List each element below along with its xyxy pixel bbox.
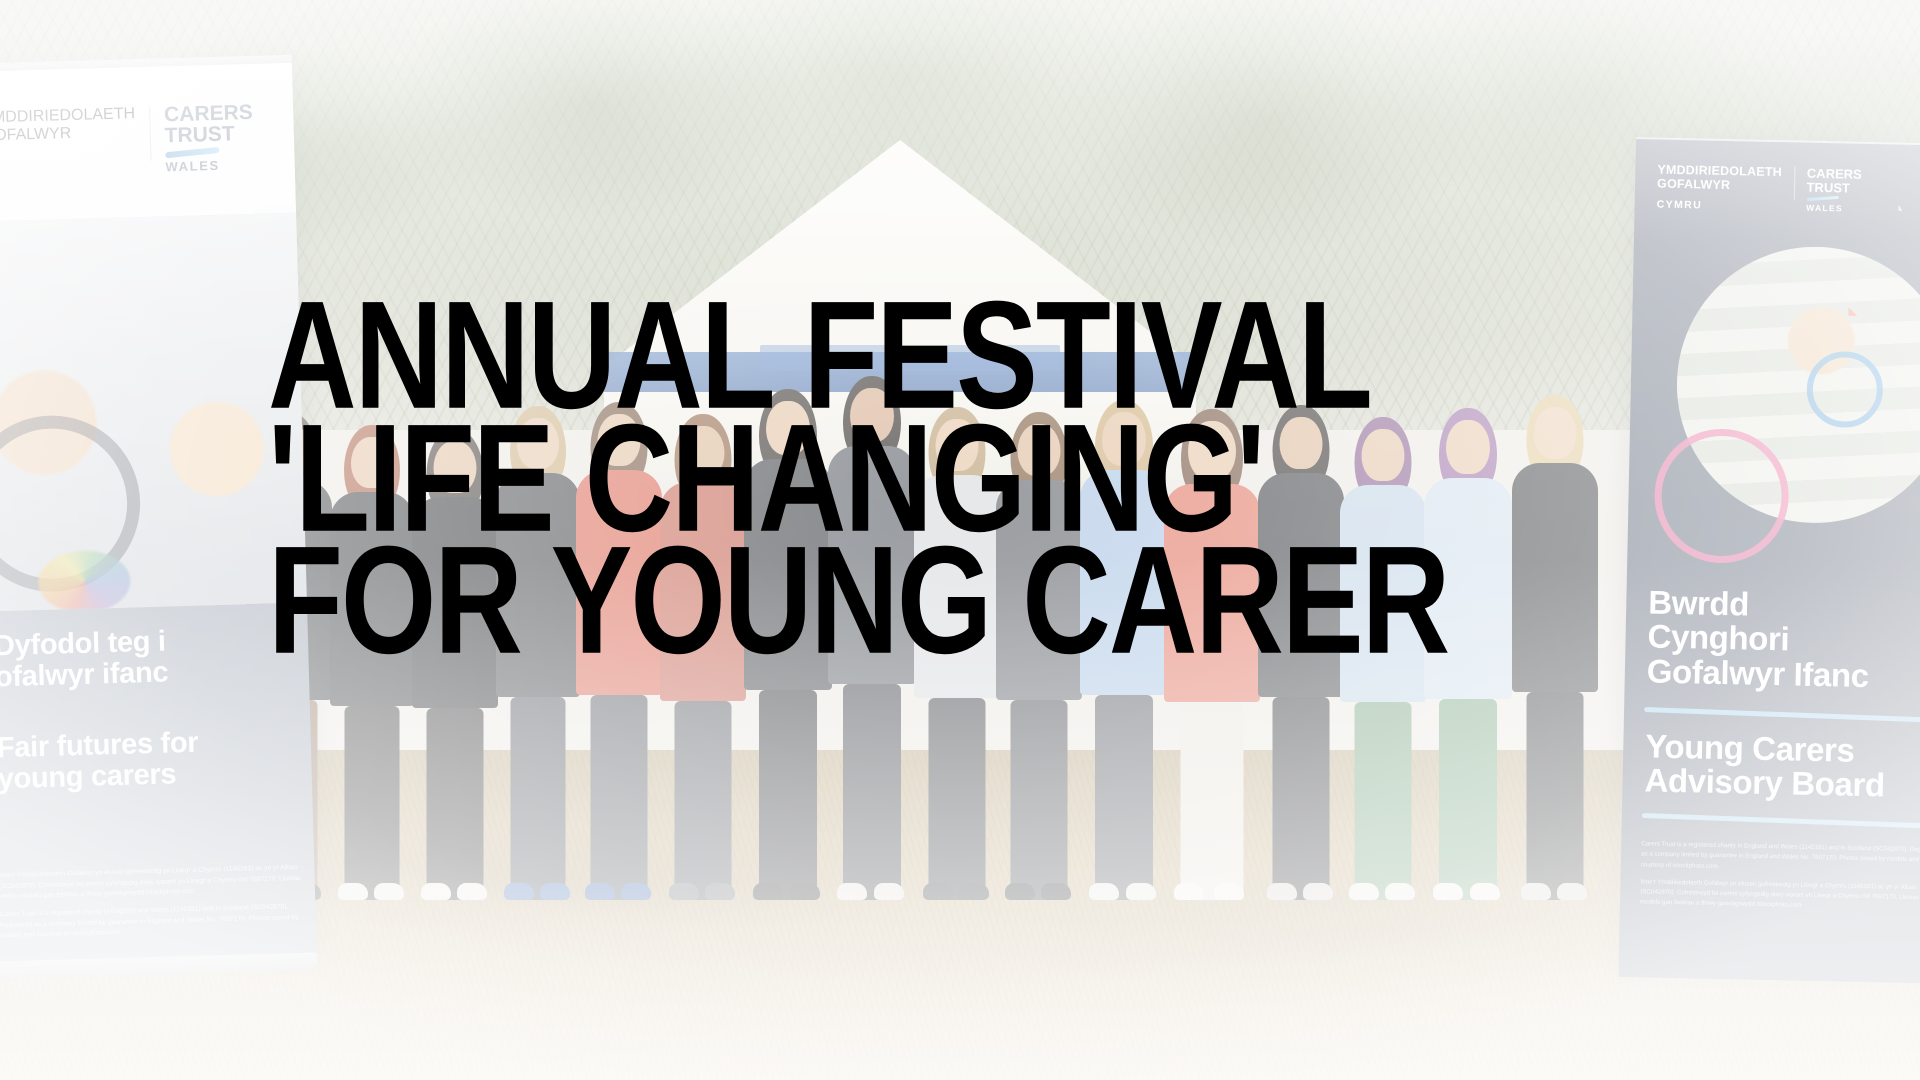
person-legs: [929, 698, 986, 900]
person-shoe: [338, 883, 368, 900]
person-shoe: [1089, 883, 1119, 900]
person-shoe: [585, 883, 615, 900]
banner-right-logo-en-line2: TRUST: [1806, 180, 1861, 195]
person-shoe: [790, 883, 820, 900]
banner-right-fine-print-welsh: Mae'r Ymddiriedolaeth Gofalwyr yn elusen…: [1640, 877, 1920, 914]
banner-left-logo-divider: [149, 107, 152, 161]
banner-right-logo-english: CARERS TRUST WALES: [1806, 167, 1862, 214]
banner-right-heading-english: Young Carers Advisory Board: [1644, 729, 1920, 804]
person-shoe: [457, 883, 487, 900]
person-shoe: [874, 883, 904, 900]
person-shoe: [1385, 883, 1415, 900]
banner-right-logo-welsh-region: CYMRU: [1657, 198, 1782, 213]
carers-trust-mark-icon: [1899, 167, 1920, 212]
banner-left-logo: YMDDIRIEDOLAETH GOFALWYR CARERS TRUST WA…: [0, 101, 281, 179]
banner-right-logo-welsh: YMDDIRIEDOLAETH GOFALWYR CYMRU: [1657, 164, 1782, 213]
person-shoe: [1521, 883, 1551, 900]
banner-right-logo-region: WALES: [1806, 203, 1861, 214]
banner-left-logo-en-line2: TRUST: [164, 123, 253, 147]
person-legs: [591, 695, 648, 900]
person-shoe: [374, 883, 404, 900]
swoosh-icon: [1806, 196, 1838, 201]
person-shoe: [1126, 883, 1156, 900]
person-shoe: [1349, 883, 1379, 900]
person-shoe: [1557, 883, 1587, 900]
banner-right-heading-english-line2: Advisory Board: [1644, 764, 1920, 805]
person-legs: [511, 697, 566, 900]
person-legs: [759, 690, 817, 900]
person-shoe: [837, 883, 867, 900]
banner-right-logo: YMDDIRIEDOLAETH GOFALWYR CYMRU CARERS TR…: [1657, 164, 1862, 215]
person-legs: [1355, 702, 1412, 900]
person-shoe: [1005, 883, 1035, 900]
person-shoe: [540, 883, 570, 900]
person-legs: [345, 706, 400, 900]
banner-left-logo-english: CARERS TRUST WALES: [164, 102, 255, 174]
person-legs: [427, 708, 484, 900]
person-shoe: [621, 883, 651, 900]
hero-image: YMDDIRIEDOLAETH GOFALWYR CARERS TRUST WA…: [0, 0, 1920, 1080]
person-legs: [675, 701, 732, 900]
person-shoe: [923, 883, 953, 900]
person-legs: [1439, 699, 1497, 900]
person-shoe: [421, 883, 451, 900]
person-shoe: [1433, 883, 1463, 900]
banner-left-fine-print: Mae'r Ymddiriedolaeth Gofalwyr yn elusen…: [0, 863, 304, 949]
person-shoe: [1041, 883, 1071, 900]
person-legs: [1181, 702, 1244, 900]
banner-right-fine-print: Carers Trust is a registered charity in …: [1640, 839, 1920, 921]
person-shoe: [1214, 883, 1244, 900]
banner-left-fine-print-english: Carers Trust is a registered charity in …: [0, 902, 304, 942]
banner-right-logo-welsh-line2: GOFALWYR: [1657, 177, 1782, 193]
person-shoe: [753, 883, 783, 900]
person-shoe: [669, 883, 699, 900]
banner-right-rule-bottom: [1642, 813, 1920, 829]
banner-right-logo-divider: [1793, 166, 1795, 200]
banner-left-logo-en-line1: CARERS: [164, 102, 253, 126]
banner-left-logo-region: WALES: [165, 157, 254, 174]
person-legs: [1011, 700, 1068, 900]
person-legs: [1527, 692, 1584, 900]
headline-line-3: FOR YOUNG CARER: [268, 537, 1920, 667]
banner-left-logo-welsh-line2: GOFALWYR: [0, 123, 136, 145]
banner-right-rule-top: [1644, 707, 1920, 723]
headline-overlay: ANNUAL FESTIVAL 'LIFE CHANGING' FOR YOUN…: [0, 292, 1920, 637]
person-shoe: [1470, 883, 1500, 900]
person-shoe: [1303, 883, 1333, 900]
person-legs: [843, 684, 901, 900]
person-shoe: [1267, 883, 1297, 900]
person-shoe: [1174, 883, 1204, 900]
person-shoe: [705, 883, 735, 900]
banner-right-fine-print-english: Carers Trust is a registered charity in …: [1641, 839, 1920, 876]
person-shoe: [959, 883, 989, 900]
person-legs: [1095, 695, 1153, 900]
banner-left-heading-english: Fair futures for young carers: [0, 725, 302, 795]
swoosh-icon: [165, 147, 219, 158]
person-shoe: [504, 883, 534, 900]
person-legs: [1273, 697, 1330, 900]
banner-left-logo-welsh: YMDDIRIEDOLAETH GOFALWYR: [0, 105, 136, 145]
